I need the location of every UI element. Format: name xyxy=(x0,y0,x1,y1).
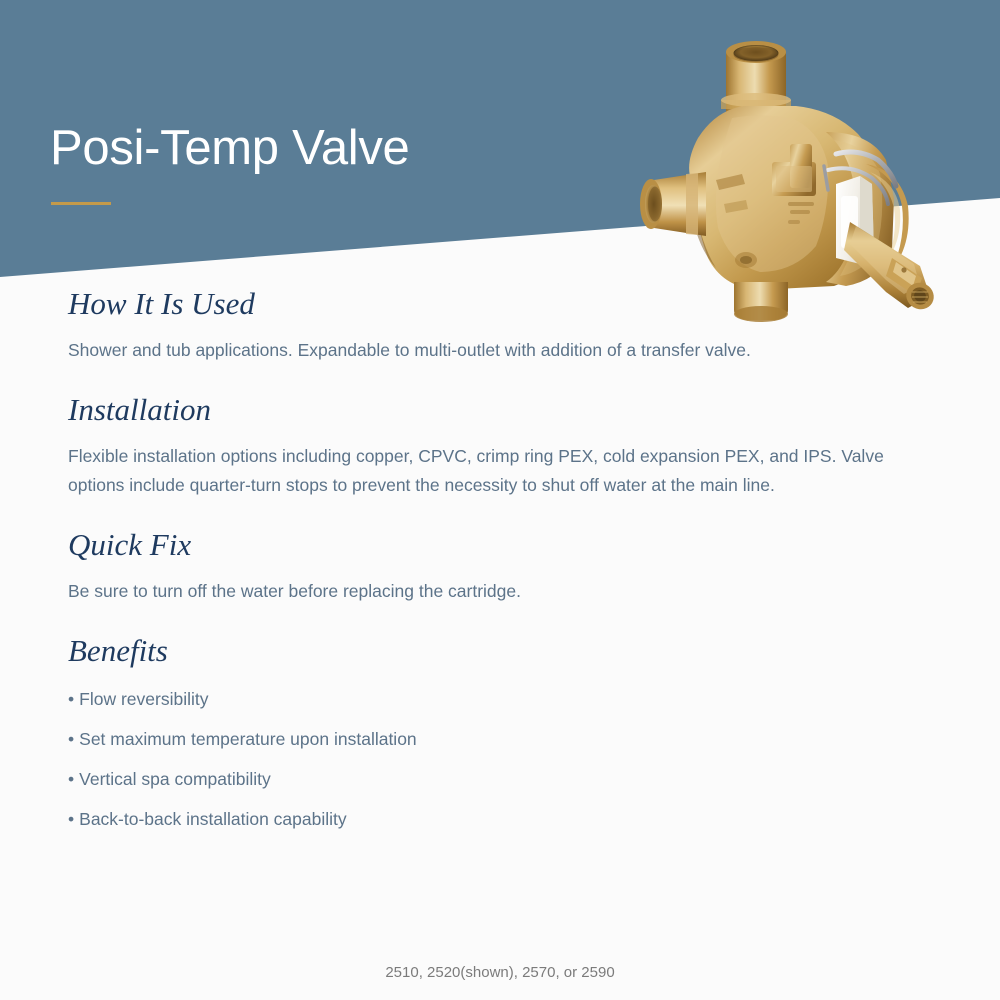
bullet-icon: • xyxy=(68,799,74,839)
page-title: Posi-Temp Valve xyxy=(50,118,410,178)
list-item-label: Flow reversibility xyxy=(79,689,208,709)
bullet-icon: • xyxy=(68,679,74,719)
section-body: Shower and tub applications. Expandable … xyxy=(68,336,920,365)
section-body: Flexible installation options including … xyxy=(68,442,920,500)
list-item: •Set maximum temperature upon installati… xyxy=(68,719,932,759)
content-area: How It Is Used Shower and tub applicatio… xyxy=(0,286,1000,839)
section-heading: How It Is Used xyxy=(68,286,932,322)
product-info-card: Posi-Temp Valve xyxy=(0,0,1000,1000)
model-number-caption: 2510, 2520(shown), 2570, or 2590 xyxy=(0,964,1000,981)
bullet-icon: • xyxy=(68,719,74,759)
list-item-label: Set maximum temperature upon installatio… xyxy=(79,729,417,749)
valve-left-port xyxy=(640,172,706,236)
section-heading: Benefits xyxy=(68,633,932,669)
section-body: Be sure to turn off the water before rep… xyxy=(68,577,920,606)
list-item-label: Vertical spa compatibility xyxy=(79,769,271,789)
list-item: •Back-to-back installation capability xyxy=(68,799,932,839)
section-installation: Installation Flexible installation optio… xyxy=(0,392,1000,500)
section-benefits: Benefits •Flow reversibility •Set maximu… xyxy=(0,633,1000,839)
list-item-label: Back-to-back installation capability xyxy=(79,809,347,829)
title-accent-rule xyxy=(51,202,111,205)
list-item: •Vertical spa compatibility xyxy=(68,759,932,799)
section-how-it-is-used: How It Is Used Shower and tub applicatio… xyxy=(0,286,1000,365)
benefits-list: •Flow reversibility •Set maximum tempera… xyxy=(68,679,932,839)
bullet-icon: • xyxy=(68,759,74,799)
section-quick-fix: Quick Fix Be sure to turn off the water … xyxy=(0,527,1000,606)
section-heading: Installation xyxy=(68,392,932,428)
section-heading: Quick Fix xyxy=(68,527,932,563)
list-item: •Flow reversibility xyxy=(68,679,932,719)
